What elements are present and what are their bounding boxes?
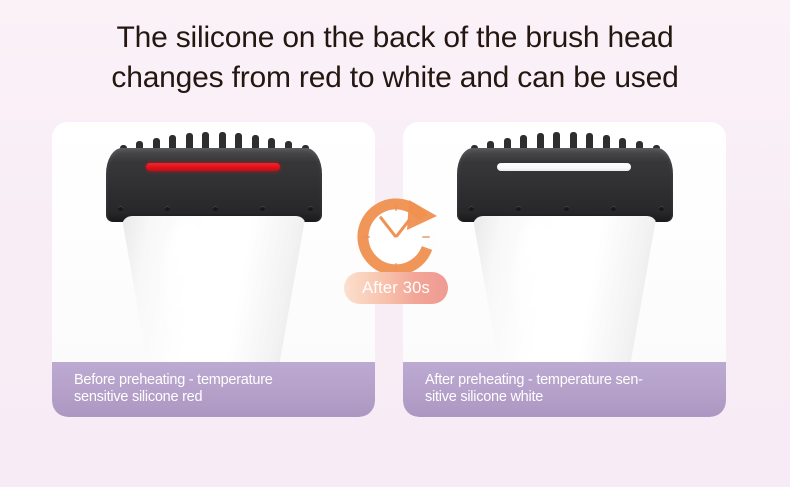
brush-body-after	[473, 216, 657, 362]
body-highlight-before	[162, 218, 210, 358]
comparison-panel-after: After preheating - temperature sen- siti…	[403, 122, 726, 417]
caption-before-line-2: sensitive silicone red	[74, 389, 361, 406]
body-highlight-after	[513, 218, 561, 358]
comparison-panel-before: Before preheating - temperature sensitiv…	[52, 122, 375, 417]
brush-device-before	[98, 130, 330, 362]
screw-dot	[611, 206, 616, 211]
product-stage-before	[52, 122, 375, 362]
product-stage-after	[403, 122, 726, 362]
promo-banner: The silicone on the back of the brush he…	[0, 0, 790, 487]
headline-line-2: changes from red to white and can be use…	[0, 58, 790, 98]
page-title: The silicone on the back of the brush he…	[0, 18, 790, 98]
screw-dot	[308, 206, 313, 211]
screw-dots-after	[463, 206, 667, 214]
screw-dot	[516, 206, 521, 211]
brush-device-after	[449, 130, 681, 362]
screw-dot	[118, 206, 123, 211]
screw-dot	[213, 206, 218, 211]
caption-after: After preheating - temperature sen- siti…	[403, 362, 726, 417]
headline-line-1: The silicone on the back of the brush he…	[0, 18, 790, 58]
screw-dot	[659, 206, 664, 211]
screw-dots-before	[112, 206, 316, 214]
screw-dot	[260, 206, 265, 211]
screw-dot	[165, 206, 170, 211]
caption-before-line-1: Before preheating - temperature	[74, 372, 361, 389]
silicone-strip-red	[146, 163, 280, 171]
timer-indicator: After 30s	[339, 192, 451, 314]
silicone-strip-white	[497, 163, 631, 171]
after-30s-badge: After 30s	[344, 272, 448, 304]
caption-after-line-1: After preheating - temperature sen-	[425, 372, 712, 389]
screw-dot	[469, 206, 474, 211]
caption-before: Before preheating - temperature sensitiv…	[52, 362, 375, 417]
brush-body-before	[122, 216, 306, 362]
caption-after-line-2: sitive silicone white	[425, 389, 712, 406]
screw-dot	[564, 206, 569, 211]
